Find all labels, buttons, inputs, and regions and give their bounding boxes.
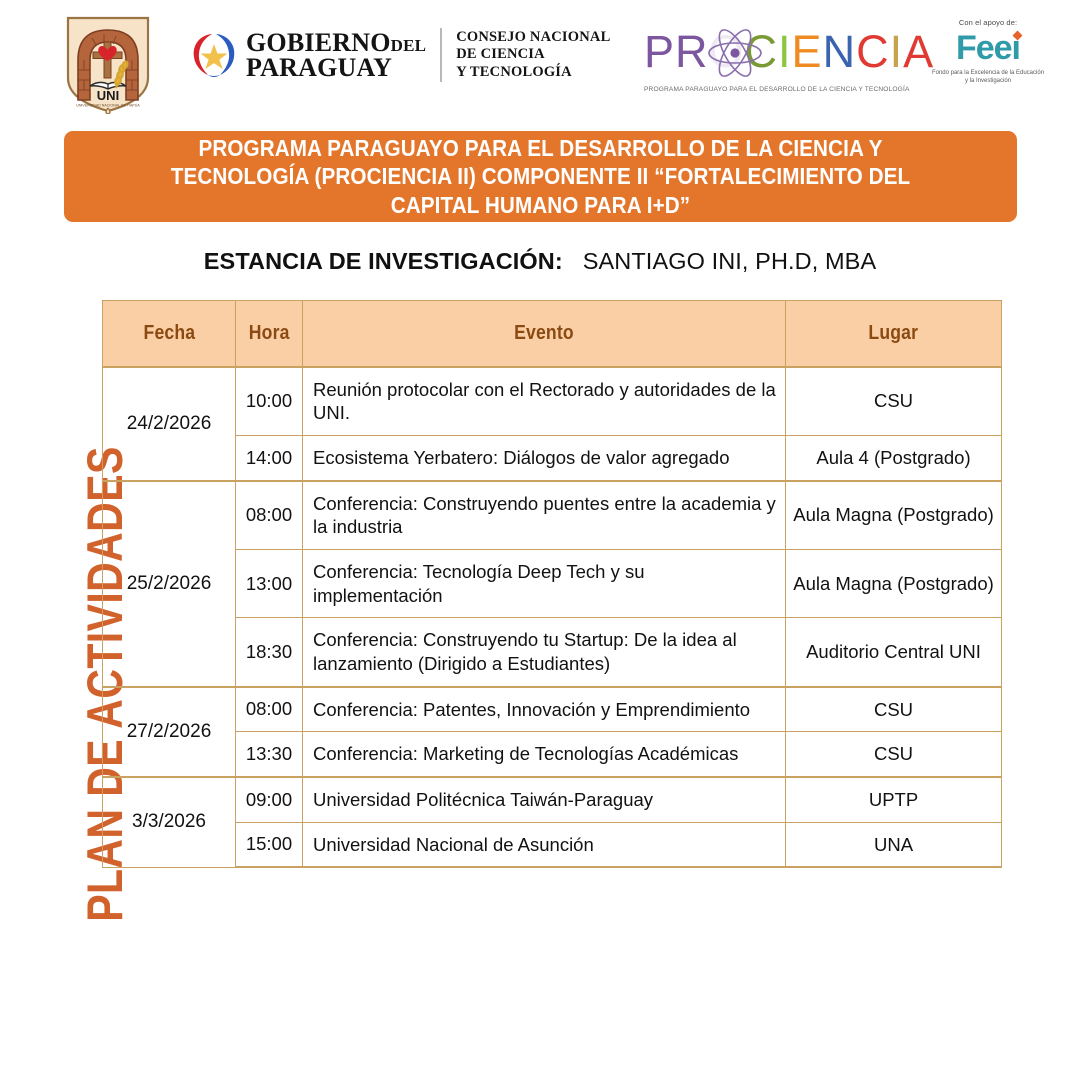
cell-hora: 13:00 [236,549,303,617]
table-header: Fecha Hora Evento Lugar [103,301,1002,367]
program-banner: PROGRAMA PARAGUAYO PARA EL DESARROLLO DE… [64,131,1017,222]
cell-hora: 13:30 [236,732,303,777]
uni-logo-text: UNI [97,88,119,103]
cell-hora: 08:00 [236,687,303,732]
prociencia-letter-r: R [675,26,709,78]
researcher-name: SANTIAGO INI, PH.D, MBA [583,248,876,274]
column-header-evento: Evento [303,301,786,367]
conacyt-wordmark: CONSEJO NACIONAL DE CIENCIA Y TECNOLOGÍA [456,29,610,80]
gobierno-line2: PARAGUAY [246,55,426,80]
prociencia-letter-i2: I [890,26,904,78]
prociencia-letter-c2: C [856,26,890,78]
table-row: 24/2/2026 10:00 Reunión protocolar con e… [103,367,1002,436]
program-banner-text: PROGRAMA PARAGUAYO PARA EL DESARROLLO DE… [137,134,944,220]
conacyt-line1: CONSEJO NACIONAL [456,29,610,46]
feei-word-text: Feei [956,29,1020,67]
gobierno-line1-small: DEL [391,36,427,55]
cell-hora: 10:00 [236,367,303,436]
feei-support-label: Con el apoyo de: [930,18,1046,27]
table-row: 18:30 Conferencia: Construyendo tu Start… [103,618,1002,687]
conacyt-line2: DE CIENCIA [456,46,610,63]
prociencia-letter-e: E [792,26,823,78]
table-row: 13:00 Conferencia: Tecnología Deep Tech … [103,549,1002,617]
cell-evento: Conferencia: Construyendo puentes entre … [303,481,786,550]
cell-fecha: 3/3/2026 [103,777,236,867]
svg-text:UNIVERSIDAD NACIONAL DE ITAPÚA: UNIVERSIDAD NACIONAL DE ITAPÚA [76,103,140,108]
cell-hora: 14:00 [236,435,303,480]
prociencia-wordmark: PROCIENCIA [644,26,924,80]
table-header-row: Fecha Hora Evento Lugar [103,301,1002,367]
cell-lugar: UNA [786,822,1002,867]
cell-lugar: Aula Magna (Postgrado) [786,481,1002,550]
table-row: 14:00 Ecosistema Yerbatero: Diálogos de … [103,435,1002,480]
cell-lugar: CSU [786,367,1002,436]
feei-subtitle: Fondo para la Excelencia de la Educación… [930,69,1046,85]
prociencia-logo: PROCIENCIA PROGRAMA PARAGUAYO PARA EL DE… [644,26,924,112]
cell-evento: Ecosistema Yerbatero: Diálogos de valor … [303,435,786,480]
cell-hora: 09:00 [236,777,303,822]
prociencia-letter-p: P [644,26,675,78]
column-header-lugar: Lugar [786,301,1002,367]
cell-hora: 15:00 [236,822,303,867]
logo-divider [440,28,442,82]
prociencia-letter-n: N [823,26,857,78]
cell-lugar: UPTP [786,777,1002,822]
column-header-hora: Hora [236,301,303,367]
feei-wordmark: Feei [956,31,1020,65]
feei-logo: Con el apoyo de: Feei Fondo para la Exce… [930,18,1046,110]
activities-schedule-table: Fecha Hora Evento Lugar 24/2/2026 10:00 … [102,300,1002,868]
page-title: ESTANCIA DE INVESTIGACIÓN: SANTIAGO INI,… [0,248,1080,275]
cell-evento: Conferencia: Tecnología Deep Tech y su i… [303,549,786,617]
cell-lugar: Aula Magna (Postgrado) [786,549,1002,617]
table-row: 27/2/2026 08:00 Conferencia: Patentes, I… [103,687,1002,732]
gobierno-paraguay-wordmark: GOBIERNODEL PARAGUAY [246,30,426,81]
cell-lugar: CSU [786,687,1002,732]
cell-evento: Universidad Nacional de Asunción [303,822,786,867]
paraguay-wreath-icon [188,29,240,81]
cell-evento: Conferencia: Marketing de Tecnologías Ac… [303,732,786,777]
poster-page: UNI UNIVERSIDAD NACIONAL DE ITAPÚA GOBIE… [0,0,1080,1080]
cell-hora: 18:30 [236,618,303,687]
cell-evento: Conferencia: Construyendo tu Startup: De… [303,618,786,687]
table-row: 13:30 Conferencia: Marketing de Tecnolog… [103,732,1002,777]
cell-evento: Conferencia: Patentes, Innovación y Empr… [303,687,786,732]
estancia-label: ESTANCIA DE INVESTIGACIÓN: [204,248,563,274]
cell-fecha: 27/2/2026 [103,687,236,777]
cell-fecha: 24/2/2026 [103,367,236,481]
uni-shield-logo: UNI UNIVERSIDAD NACIONAL DE ITAPÚA [62,12,154,114]
conacyt-line3: Y TECNOLOGÍA [456,64,610,81]
cell-fecha: 25/2/2026 [103,481,236,687]
column-header-fecha: Fecha [103,301,236,367]
cell-evento: Universidad Politécnica Taiwán-Paraguay [303,777,786,822]
logo-strip: UNI UNIVERSIDAD NACIONAL DE ITAPÚA GOBIE… [0,0,1080,120]
cell-evento: Reunión protocolar con el Rectorado y au… [303,367,786,436]
gobierno-paraguay-logo: GOBIERNODEL PARAGUAY CONSEJO NACIONAL DE… [188,28,610,82]
cell-lugar: CSU [786,732,1002,777]
table-row: 3/3/2026 09:00 Universidad Politécnica T… [103,777,1002,822]
atom-icon [706,24,764,82]
prociencia-letter-i1: I [778,26,792,78]
cell-lugar: Aula 4 (Postgrado) [786,435,1002,480]
table-body: 24/2/2026 10:00 Reunión protocolar con e… [103,367,1002,868]
cell-hora: 08:00 [236,481,303,550]
table-row: 25/2/2026 08:00 Conferencia: Construyend… [103,481,1002,550]
table-row: 15:00 Universidad Nacional de Asunción U… [103,822,1002,867]
cell-lugar: Auditorio Central UNI [786,618,1002,687]
prociencia-tagline: PROGRAMA PARAGUAYO PARA EL DESARROLLO DE… [644,86,924,93]
